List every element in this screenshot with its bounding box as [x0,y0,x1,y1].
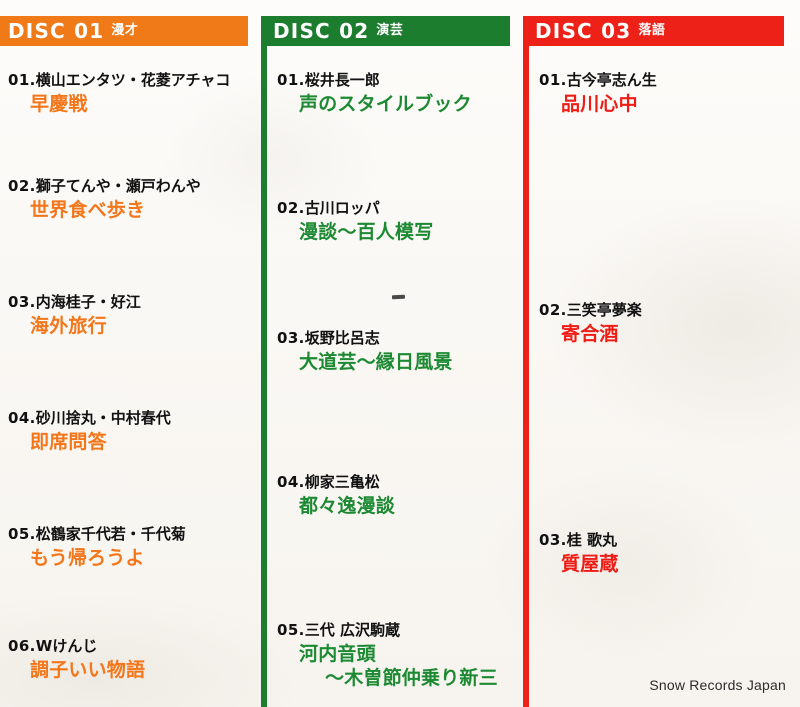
scan-artifact-mark [392,295,405,300]
track-number: 01. [277,71,305,89]
track-number: 06. [8,637,36,655]
disc-columns: DISC 01 漫才 01.横山エンタツ・花菱アチャコ 早慶戦 02.獅子てんや… [0,0,800,707]
track-artist: 内海桂子・好江 [36,293,141,311]
track-title: 大道芸〜縁日風景 [277,351,519,374]
track-row: 03.桂 歌丸 質屋蔵 [523,532,796,576]
watermark-snow-records-japan: Snow Records Japan [649,677,786,693]
track-title: 都々逸漫談 [277,495,519,518]
track-artist: 古川ロッパ [305,199,380,217]
disc-header-03: DISC 03 落語 [527,16,784,46]
track-title: 質屋蔵 [539,553,796,576]
track-artist-line: 02.三笑亭夢楽 [539,302,796,320]
track-artist: Wけんじ [36,637,98,655]
track-artist-line: 01.古今亭志ん生 [539,72,796,90]
track-row: 03.坂野比呂志 大道芸〜縁日風景 [261,330,519,374]
track-artist-line: 05.松鶴家千代若・千代菊 [8,526,257,544]
disc-header-02: DISC 02 演芸 [265,16,510,46]
track-title: 調子いい物語 [8,659,257,682]
track-number: 01. [539,71,567,89]
track-artist: 柳家三亀松 [305,473,380,491]
track-artist: 獅子てんや・瀬戸わんや [36,177,201,195]
track-title: 早慶戦 [8,93,257,116]
track-title: もう帰ろうよ [8,547,257,570]
disc-title-01: DISC 01 [8,21,104,41]
track-number: 04. [277,473,305,491]
track-row: 05.三代 広沢駒蔵 河内音頭 〜木曽節仲乗り新三 [261,622,519,690]
track-list-02: 01.桜井長一郎 声のスタイルブック 02.古川ロッパ 漫談〜百人模写 03.坂… [261,46,523,707]
track-artist-line: 04.砂川捨丸・中村春代 [8,410,257,428]
track-row: 05.松鶴家千代若・千代菊 もう帰ろうよ [0,526,257,570]
track-artist-line: 01.横山エンタツ・花菱アチャコ [8,72,257,90]
track-artist: 桂 歌丸 [567,531,617,549]
disc-header-01: DISC 01 漫才 [0,16,248,46]
track-row: 06.Wけんじ 調子いい物語 [0,638,257,682]
track-artist: 松鶴家千代若・千代菊 [36,525,186,543]
track-row: 04.柳家三亀松 都々逸漫談 [261,474,519,518]
track-row: 02.三笑亭夢楽 寄合酒 [523,302,796,346]
track-number: 05. [277,621,305,639]
disc-title-03: DISC 03 [535,21,631,41]
track-artist-line: 05.三代 広沢駒蔵 [277,622,519,640]
track-title: 河内音頭 [277,643,519,666]
disc-column-01: DISC 01 漫才 01.横山エンタツ・花菱アチャコ 早慶戦 02.獅子てんや… [0,0,261,707]
track-row: 01.横山エンタツ・花菱アチャコ 早慶戦 [0,72,257,116]
track-row: 01.古今亭志ん生 品川心中 [523,72,796,116]
track-artist: 三笑亭夢楽 [567,301,642,319]
track-row: 02.獅子てんや・瀬戸わんや 世界食べ歩き [0,178,257,222]
track-artist: 三代 広沢駒蔵 [305,621,400,639]
track-title: 世界食べ歩き [8,199,257,222]
disc-genre-02: 演芸 [376,24,403,38]
track-row: 04.砂川捨丸・中村春代 即席問答 [0,410,257,454]
track-artist-line: 02.古川ロッパ [277,200,519,218]
track-title-continuation: 〜木曽節仲乗り新三 [277,667,519,690]
track-number: 03. [277,329,305,347]
track-title: 品川心中 [539,93,796,116]
track-artist-line: 03.桂 歌丸 [539,532,796,550]
track-number: 02. [539,301,567,319]
track-artist: 横山エンタツ・花菱アチャコ [36,71,231,89]
disc-column-03: DISC 03 落語 01.古今亭志ん生 品川心中 02.三笑亭夢楽 寄合酒 0… [523,0,800,707]
track-artist-line: 02.獅子てんや・瀬戸わんや [8,178,257,196]
track-title: 即席問答 [8,431,257,454]
track-artist: 坂野比呂志 [305,329,380,347]
disc-title-02: DISC 02 [273,21,369,41]
track-number: 01. [8,71,36,89]
track-number: 05. [8,525,36,543]
track-list-01: 01.横山エンタツ・花菱アチャコ 早慶戦 02.獅子てんや・瀬戸わんや 世界食べ… [0,46,261,707]
track-artist-line: 03.内海桂子・好江 [8,294,257,312]
track-title: 漫談〜百人模写 [277,221,519,244]
track-title: 寄合酒 [539,323,796,346]
track-number: 02. [277,199,305,217]
track-row: 01.桜井長一郎 声のスタイルブック [261,72,519,116]
track-artist: 砂川捨丸・中村春代 [36,409,171,427]
track-artist-line: 04.柳家三亀松 [277,474,519,492]
track-number: 03. [539,531,567,549]
track-artist: 古今亭志ん生 [567,71,657,89]
track-row: 03.内海桂子・好江 海外旅行 [0,294,257,338]
disc-genre-03: 落語 [638,24,665,38]
track-number: 04. [8,409,36,427]
track-artist-line: 01.桜井長一郎 [277,72,519,90]
disc-genre-01: 漫才 [111,24,138,38]
disc-column-02: DISC 02 演芸 01.桜井長一郎 声のスタイルブック 02.古川ロッパ 漫… [261,0,523,707]
track-number: 02. [8,177,36,195]
track-row: 02.古川ロッパ 漫談〜百人模写 [261,200,519,244]
track-title: 声のスタイルブック [277,93,519,116]
track-list-03: 01.古今亭志ん生 品川心中 02.三笑亭夢楽 寄合酒 03.桂 歌丸 質屋蔵 [523,46,800,707]
track-artist: 桜井長一郎 [305,71,380,89]
track-title: 海外旅行 [8,315,257,338]
track-artist-line: 03.坂野比呂志 [277,330,519,348]
track-number: 03. [8,293,36,311]
track-artist-line: 06.Wけんじ [8,638,257,656]
